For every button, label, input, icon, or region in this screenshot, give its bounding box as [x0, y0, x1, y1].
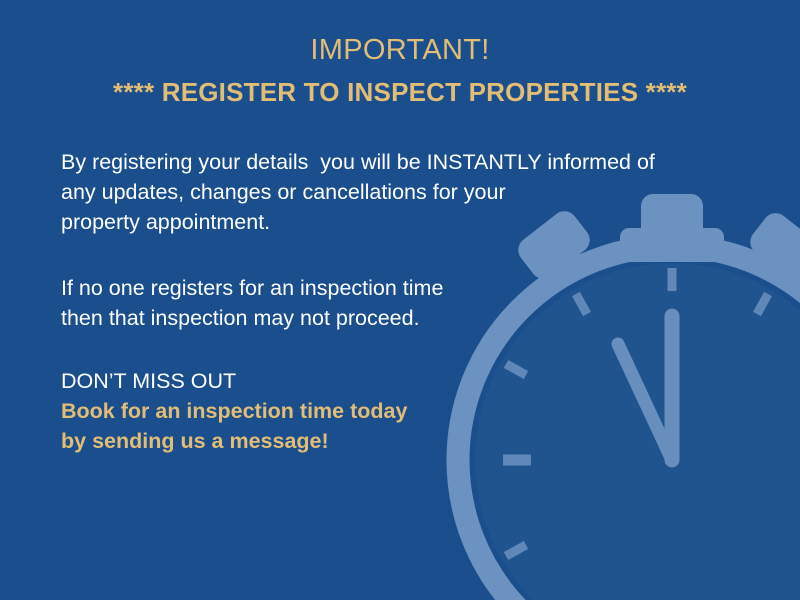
cta-line-book: Book for an inspection time today [61, 396, 407, 426]
body-paragraph-registering: By registering your details you will be … [61, 147, 655, 237]
cta-headline: DON’T MISS OUT [61, 366, 407, 396]
call-to-action-block: DON’T MISS OUT Book for an inspection ti… [61, 366, 407, 456]
slide-canvas: IMPORTANT! **** REGISTER TO INSPECT PROP… [0, 0, 800, 600]
page-subtitle: **** REGISTER TO INSPECT PROPERTIES **** [0, 76, 800, 108]
body-paragraph-no-registration: If no one registers for an inspection ti… [61, 273, 443, 333]
cta-line-message: by sending us a message! [61, 426, 407, 456]
slide-text-layer: IMPORTANT! **** REGISTER TO INSPECT PROP… [0, 0, 800, 600]
page-title: IMPORTANT! [0, 33, 800, 67]
